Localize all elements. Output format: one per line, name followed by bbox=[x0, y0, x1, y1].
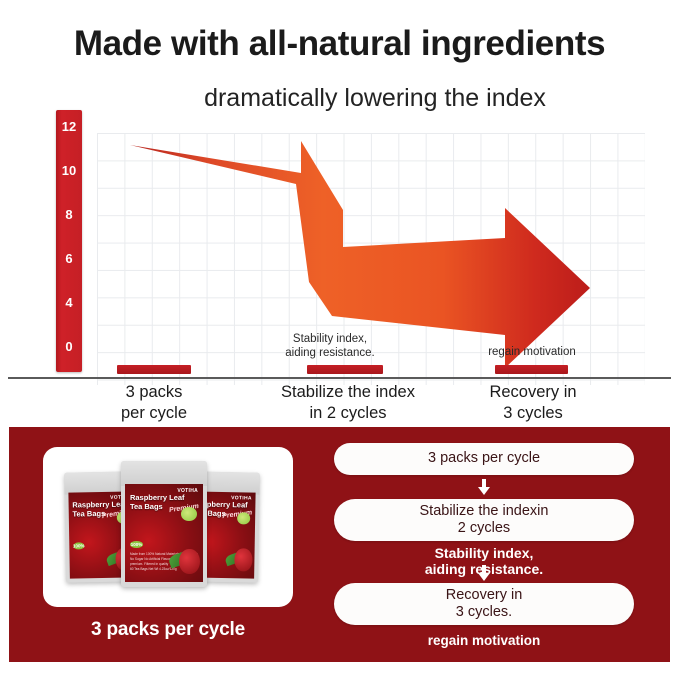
raspberry-icon bbox=[235, 549, 253, 572]
flow-step-3-line-2: 3 cycles. bbox=[456, 604, 512, 620]
pack-badge: 100% bbox=[130, 541, 143, 548]
chart-baseline bbox=[8, 377, 671, 379]
lime-slice-icon bbox=[181, 507, 196, 521]
x-axis-labels: 3 packs per cycle Stabilize the index in… bbox=[0, 382, 679, 420]
annotation-regain-motivation: regain motivation bbox=[452, 345, 612, 359]
raspberry-icon bbox=[179, 549, 199, 575]
flow-note-regain-motivation: regain motivation bbox=[334, 633, 634, 649]
x-label-2-line-2: in 2 cycles bbox=[309, 404, 386, 422]
process-flow: 3 packs per cycle Stabilize the indexin … bbox=[319, 437, 649, 657]
arrow-down-icon bbox=[478, 565, 490, 581]
flow-step-2-line-2: 2 cycles bbox=[458, 520, 510, 536]
chart: 12 10 8 6 4 0 Stability ind bbox=[0, 110, 679, 400]
flow-step-3-line-1: Recovery in bbox=[446, 587, 523, 603]
x-label-1-line-1: 3 packs bbox=[126, 383, 183, 401]
x-label-3: Recovery in 3 cycles bbox=[458, 382, 608, 423]
product-pack-center: VOTIHA Raspberry Leaf Tea Bags Premium 1… bbox=[121, 461, 207, 587]
pack-zip-icon bbox=[121, 461, 207, 486]
flow-step-1: 3 packs per cycle bbox=[334, 443, 634, 475]
lime-slice-icon bbox=[237, 513, 251, 525]
x-label-2: Stabilize the index in 2 cycles bbox=[262, 382, 434, 423]
x-label-3-line-1: Recovery in bbox=[489, 383, 576, 401]
bottom-red-panel: VOTIHA Raspberry Leaf Tea Bags Premium 1… bbox=[9, 427, 670, 662]
page-title: Made with all-natural ingredients bbox=[0, 26, 679, 63]
flow-step-2-line-1: Stabilize the indexin bbox=[420, 503, 549, 519]
pack-badge: 100% bbox=[73, 542, 84, 549]
x-label-1: 3 packs per cycle bbox=[83, 382, 225, 423]
photo-caption: 3 packs per cycle bbox=[43, 619, 293, 641]
pack-net-weight: 60 Tea Bags Net Wt 4.23oz/120g bbox=[130, 567, 177, 571]
annotation-line-2: aiding resistance. bbox=[285, 347, 375, 359]
annotation-line-1: Stability index, bbox=[293, 333, 367, 345]
x-label-1-line-2: per cycle bbox=[121, 404, 187, 422]
page-subtitle: dramatically lowering the index bbox=[95, 85, 655, 113]
x-tick-bar-2 bbox=[307, 365, 383, 374]
flow-step-3: Recovery in 3 cycles. bbox=[334, 583, 634, 625]
flow-note-1-line-1: Stability index, bbox=[435, 545, 534, 561]
product-photo-card: VOTIHA Raspberry Leaf Tea Bags Premium 1… bbox=[43, 447, 293, 607]
x-label-3-line-2: 3 cycles bbox=[503, 404, 563, 422]
x-label-2-line-1: Stabilize the index bbox=[281, 383, 415, 401]
annotation-stability-index: Stability index, aiding resistance. bbox=[265, 332, 395, 360]
x-tick-bar-3 bbox=[495, 365, 568, 374]
arrow-down-icon bbox=[478, 479, 490, 495]
infographic-root: Made with all-natural ingredients dramat… bbox=[0, 0, 679, 679]
flow-step-2: Stabilize the indexin 2 cycles bbox=[334, 499, 634, 541]
x-tick-bar-1 bbox=[117, 365, 191, 374]
